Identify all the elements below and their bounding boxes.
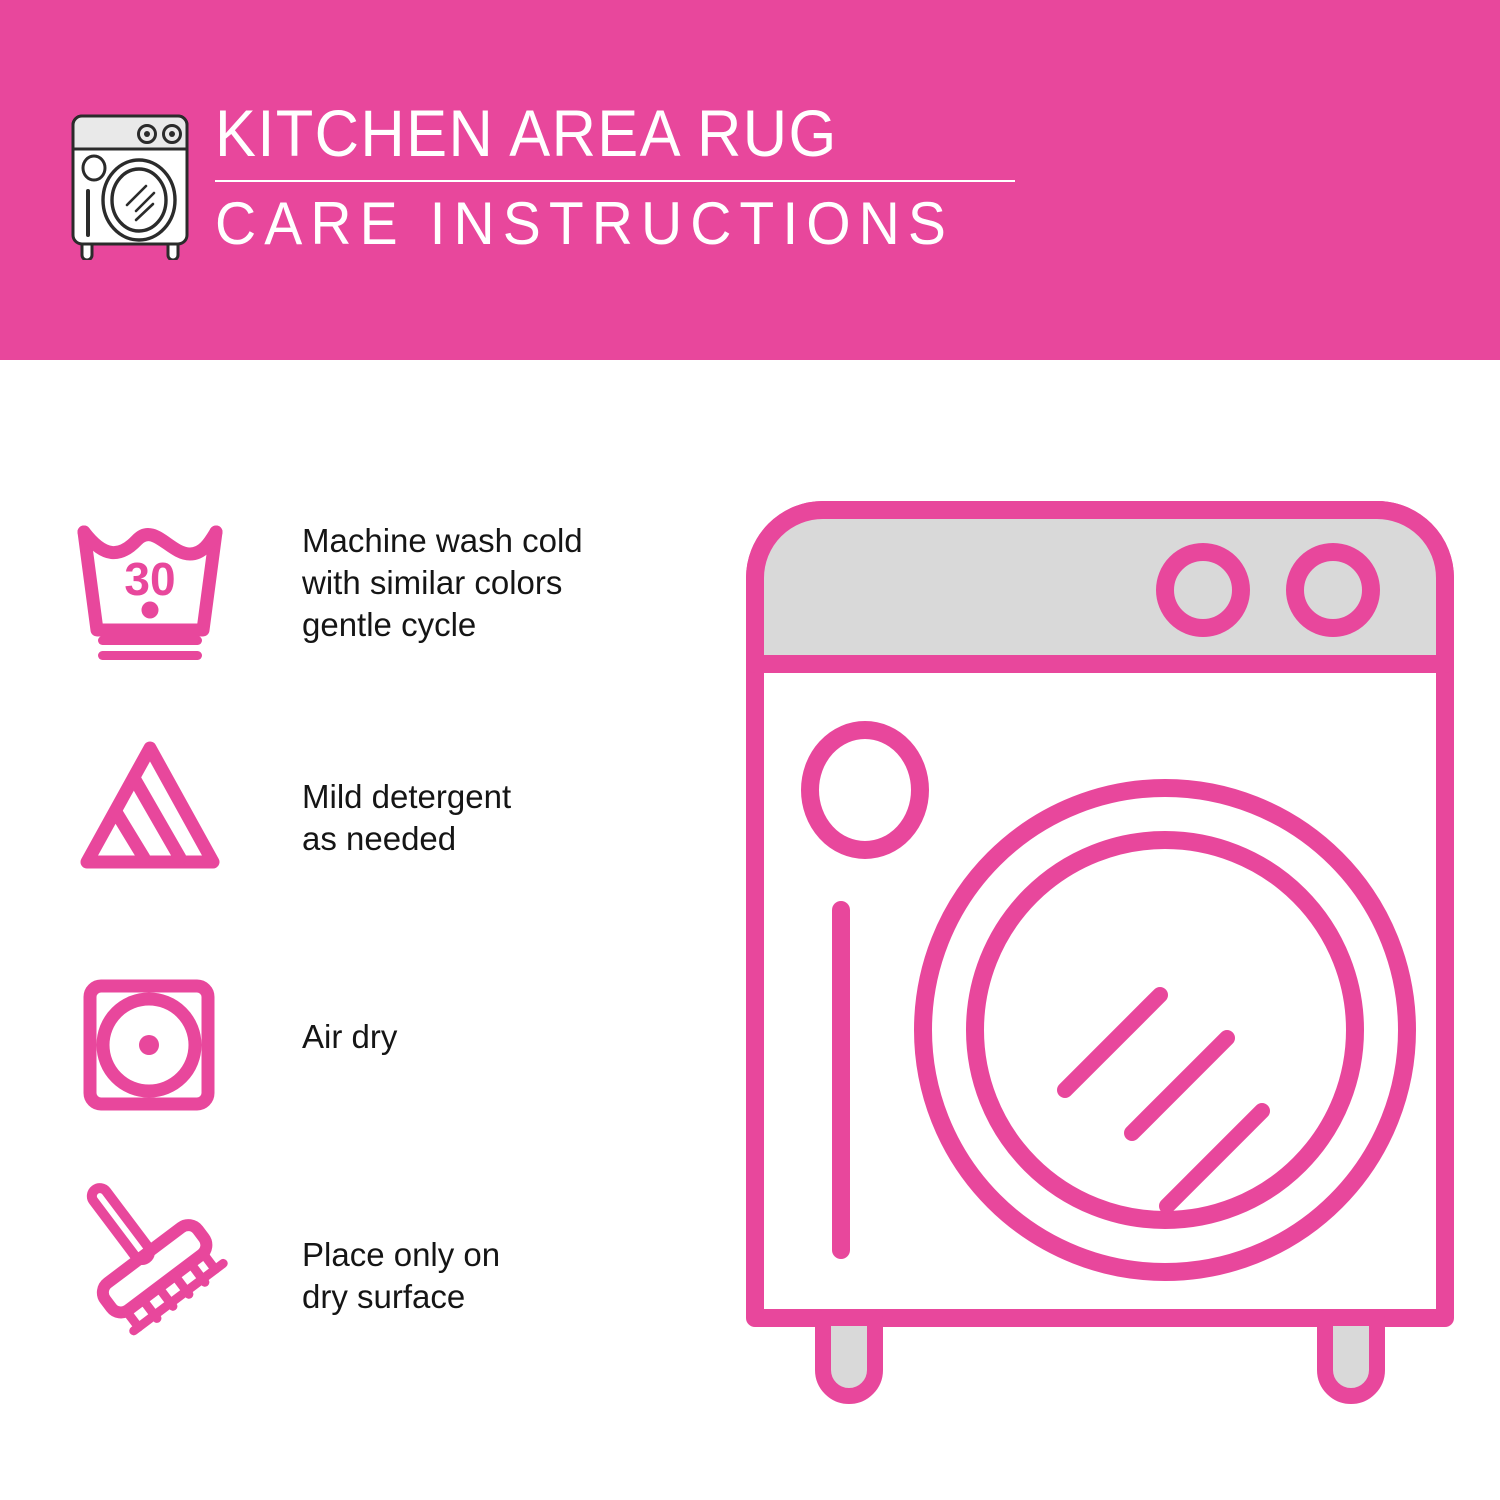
broom-icon (70, 1180, 230, 1340)
tumble-dry-square-icon (70, 970, 230, 1120)
care-row: Mild detergent as needed (70, 730, 690, 880)
care-row: 30 Machine wash cold with similar colors… (70, 510, 690, 660)
washer-knob-right (1295, 552, 1371, 628)
washing-machine-illustration (735, 490, 1465, 1420)
page-subtitle: CARE INSTRUCTIONS (215, 192, 994, 255)
page-title: KITCHEN AREA RUG (215, 100, 978, 166)
care-row: Air dry (70, 970, 690, 1120)
header-banner: KITCHEN AREA RUG CARE INSTRUCTIONS (0, 0, 1500, 360)
title-block: KITCHEN AREA RUG CARE INSTRUCTIONS (215, 100, 1035, 255)
care-row-label: Air dry (302, 970, 397, 1058)
care-row-label: Place only on dry surface (302, 1180, 500, 1318)
washer-leg-right (1325, 1318, 1377, 1396)
title-divider (215, 180, 1015, 182)
washer-knob-left (1165, 552, 1241, 628)
bleach-triangle-icon (70, 730, 230, 880)
wash-tub-30-gentle-icon: 30 (70, 510, 230, 660)
care-row: Place only on dry surface (70, 1180, 690, 1340)
care-row-label: Machine wash cold with similar colors ge… (302, 510, 583, 647)
washer-leg-left (823, 1318, 875, 1396)
washing-machine-icon (66, 108, 194, 260)
care-row-label: Mild detergent as needed (302, 730, 511, 860)
wash-temperature-value: 30 (124, 553, 175, 605)
